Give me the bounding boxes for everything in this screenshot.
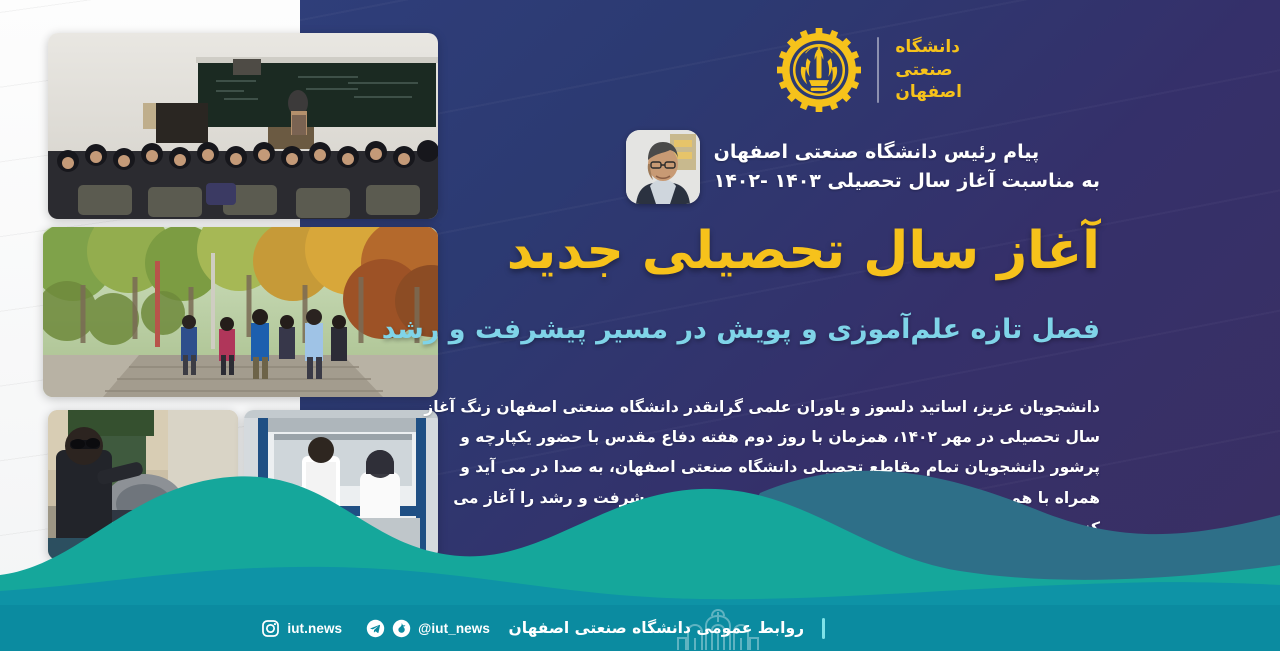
university-name-text: دانشگاه صنعتی اصفهان	[895, 37, 962, 103]
footer-bar: روابط عمومی دانشگاه صنعتی اصفهان iut.new…	[0, 605, 1280, 651]
message-line-1: پیام رئیس دانشگاه صنعتی اصفهان	[714, 140, 1040, 165]
poster-canvas: دانشگاه صنعتی اصفهان	[0, 0, 1280, 651]
message-line-2: به مناسبت آغاز سال تحصیلی ۱۴۰۳ -۱۴۰۲	[714, 169, 1100, 194]
decorative-wave-band	[0, 415, 1280, 605]
president-message-lines: پیام رئیس دانشگاه صنعتی اصفهان به مناسبت…	[714, 140, 1100, 193]
instagram-icon[interactable]	[261, 619, 280, 638]
president-message-header: پیام رئیس دانشگاه صنعتی اصفهان به مناسبت…	[626, 130, 1100, 204]
page-subtitle: فصل تازه علم‌آموزی و پویش در مسیر پیشرفت…	[382, 314, 1100, 346]
iut-gear-torch-emblem-icon	[777, 28, 861, 112]
campus-path-photo	[43, 227, 438, 397]
public-relations-block: روابط عمومی دانشگاه صنعتی اصفهان	[509, 605, 804, 651]
classroom-photo	[48, 33, 438, 219]
university-logo-lockup: دانشگاه صنعتی اصفهان	[777, 28, 962, 112]
page-title: آغاز سال تحصیلی جدید	[507, 222, 1100, 280]
logo-word-1: دانشگاه	[895, 37, 960, 58]
bale-telegram-handle[interactable]: @iut_news	[418, 621, 490, 636]
logo-word-3: اصفهان	[895, 82, 962, 103]
social-links: iut.news @iut_news	[261, 605, 490, 651]
telegram-icon[interactable]	[366, 619, 385, 638]
logo-word-2: صنعتی	[895, 60, 952, 81]
logo-divider	[877, 37, 879, 103]
footer-divider	[822, 618, 825, 639]
bale-icon[interactable]	[392, 619, 411, 638]
president-portrait-avatar	[626, 130, 700, 204]
public-relations-label: روابط عمومی دانشگاه صنعتی اصفهان	[509, 619, 804, 637]
instagram-handle[interactable]: iut.news	[287, 621, 342, 636]
